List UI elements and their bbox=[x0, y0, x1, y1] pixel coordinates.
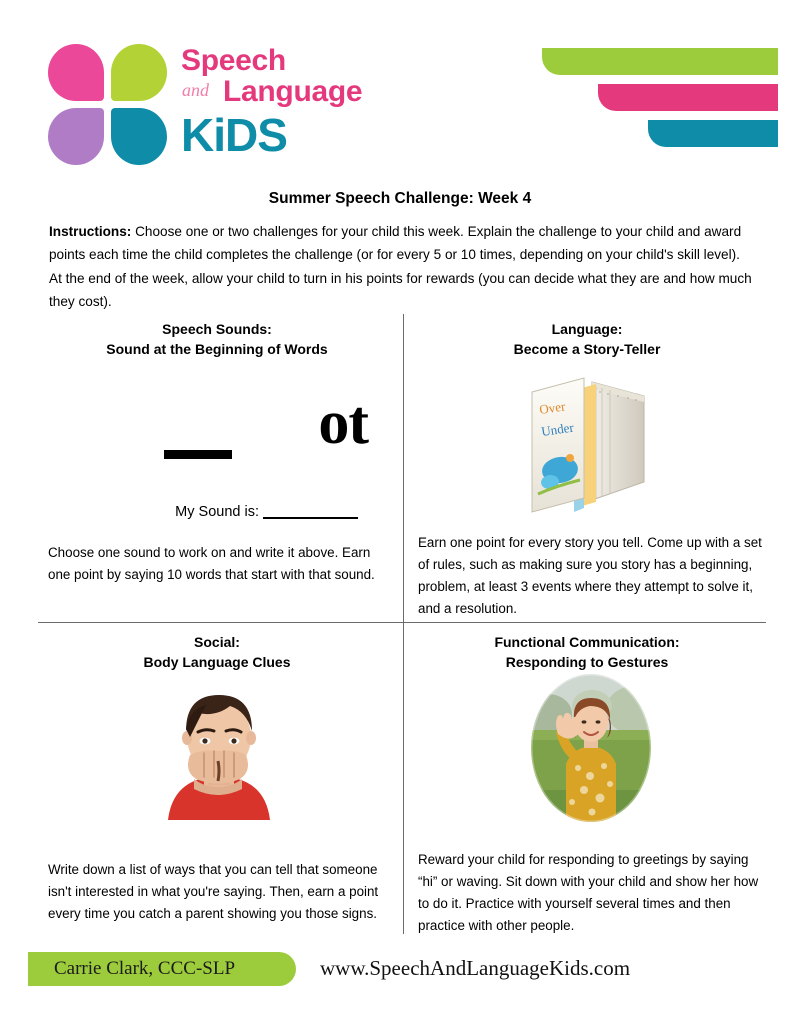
quadrant-heading-line1: Speech Sounds: bbox=[38, 319, 396, 339]
my-sound-label: My Sound is: bbox=[175, 504, 259, 520]
quadrant-heading-line1: Social: bbox=[38, 632, 396, 652]
quadrant-body-text: Earn one point for every story you tell.… bbox=[418, 532, 766, 619]
petal-purple-icon bbox=[48, 108, 104, 165]
challenge-grid: Speech Sounds: Sound at the Beginning of… bbox=[38, 314, 766, 934]
header-stripes-decoration bbox=[530, 48, 778, 158]
instructions-paragraph: Instructions: Choose one or two challeng… bbox=[49, 220, 754, 314]
wordmark-kids: KiDS bbox=[181, 112, 287, 158]
quadrant-body-text: Write down a list of ways that you can t… bbox=[48, 859, 396, 925]
page-title: Summer Speech Challenge: Week 4 bbox=[0, 190, 800, 208]
stripe-teal bbox=[648, 120, 778, 147]
stripe-pink bbox=[598, 84, 778, 111]
boy-covering-mouth-image bbox=[146, 675, 291, 820]
sound-blank-line bbox=[164, 450, 232, 459]
stripe-green bbox=[542, 48, 778, 75]
quadrant-language: Language: Become a Story-Teller bbox=[408, 314, 766, 619]
flower-logo-icon bbox=[48, 44, 168, 166]
quadrant-heading: Functional Communication: Responding to … bbox=[408, 627, 766, 673]
horizontal-divider bbox=[38, 622, 766, 623]
quadrant-heading: Speech Sounds: Sound at the Beginning of… bbox=[38, 314, 396, 360]
author-banner: Carrie Clark, CCC-SLP bbox=[28, 952, 296, 986]
quadrant-body-text: Reward your child for responding to gree… bbox=[418, 849, 768, 936]
quadrant-heading-line1: Language: bbox=[408, 319, 766, 339]
petal-green-icon bbox=[111, 44, 167, 101]
quadrant-speech-sounds: Speech Sounds: Sound at the Beginning of… bbox=[38, 314, 396, 619]
brand-logo: Speech and Language KiDS bbox=[48, 44, 348, 169]
instructions-text: Choose one or two challenges for your ch… bbox=[49, 224, 752, 309]
author-name: Carrie Clark, CCC-SLP bbox=[54, 958, 235, 980]
quadrant-heading-line2: Body Language Clues bbox=[38, 652, 396, 672]
petal-teal-icon bbox=[111, 108, 167, 165]
vertical-divider bbox=[403, 314, 404, 934]
instructions-label: Instructions: bbox=[49, 224, 131, 239]
sound-word-display: ot bbox=[38, 392, 396, 482]
quadrant-social: Social: Body Language Clues bbox=[38, 627, 396, 932]
worksheet-page: Speech and Language KiDS Summer Speech C… bbox=[0, 0, 800, 1035]
my-sound-write-in-line[interactable] bbox=[263, 517, 358, 519]
my-sound-field[interactable]: My Sound is: bbox=[38, 504, 358, 520]
quadrant-heading: Social: Body Language Clues bbox=[38, 627, 396, 673]
website-url[interactable]: www.SpeechAndLanguageKids.com bbox=[320, 956, 760, 981]
page-footer: Carrie Clark, CCC-SLP www.SpeechAndLangu… bbox=[0, 952, 800, 1000]
quadrant-heading-line1: Functional Communication: bbox=[408, 632, 766, 652]
woman-waving-image bbox=[526, 672, 656, 824]
quadrant-heading: Language: Become a Story-Teller bbox=[408, 314, 766, 360]
wordmark-language: Language bbox=[223, 77, 362, 107]
sound-word-text: ot bbox=[38, 392, 368, 454]
quadrant-heading-line2: Sound at the Beginning of Words bbox=[38, 339, 396, 359]
open-picture-book-image: Over Under bbox=[526, 362, 648, 514]
quadrant-functional-communication: Functional Communication: Responding to … bbox=[408, 627, 766, 932]
wordmark-and: and bbox=[182, 81, 209, 99]
quadrant-body-text: Choose one sound to work on and write it… bbox=[48, 542, 393, 586]
wordmark-speech: Speech bbox=[181, 46, 286, 76]
page-header: Speech and Language KiDS bbox=[0, 0, 800, 180]
brand-wordmark: Speech and Language KiDS bbox=[181, 46, 401, 168]
quadrant-heading-line2: Responding to Gestures bbox=[408, 652, 766, 672]
quadrant-heading-line2: Become a Story-Teller bbox=[408, 339, 766, 359]
petal-pink-icon bbox=[48, 44, 104, 101]
